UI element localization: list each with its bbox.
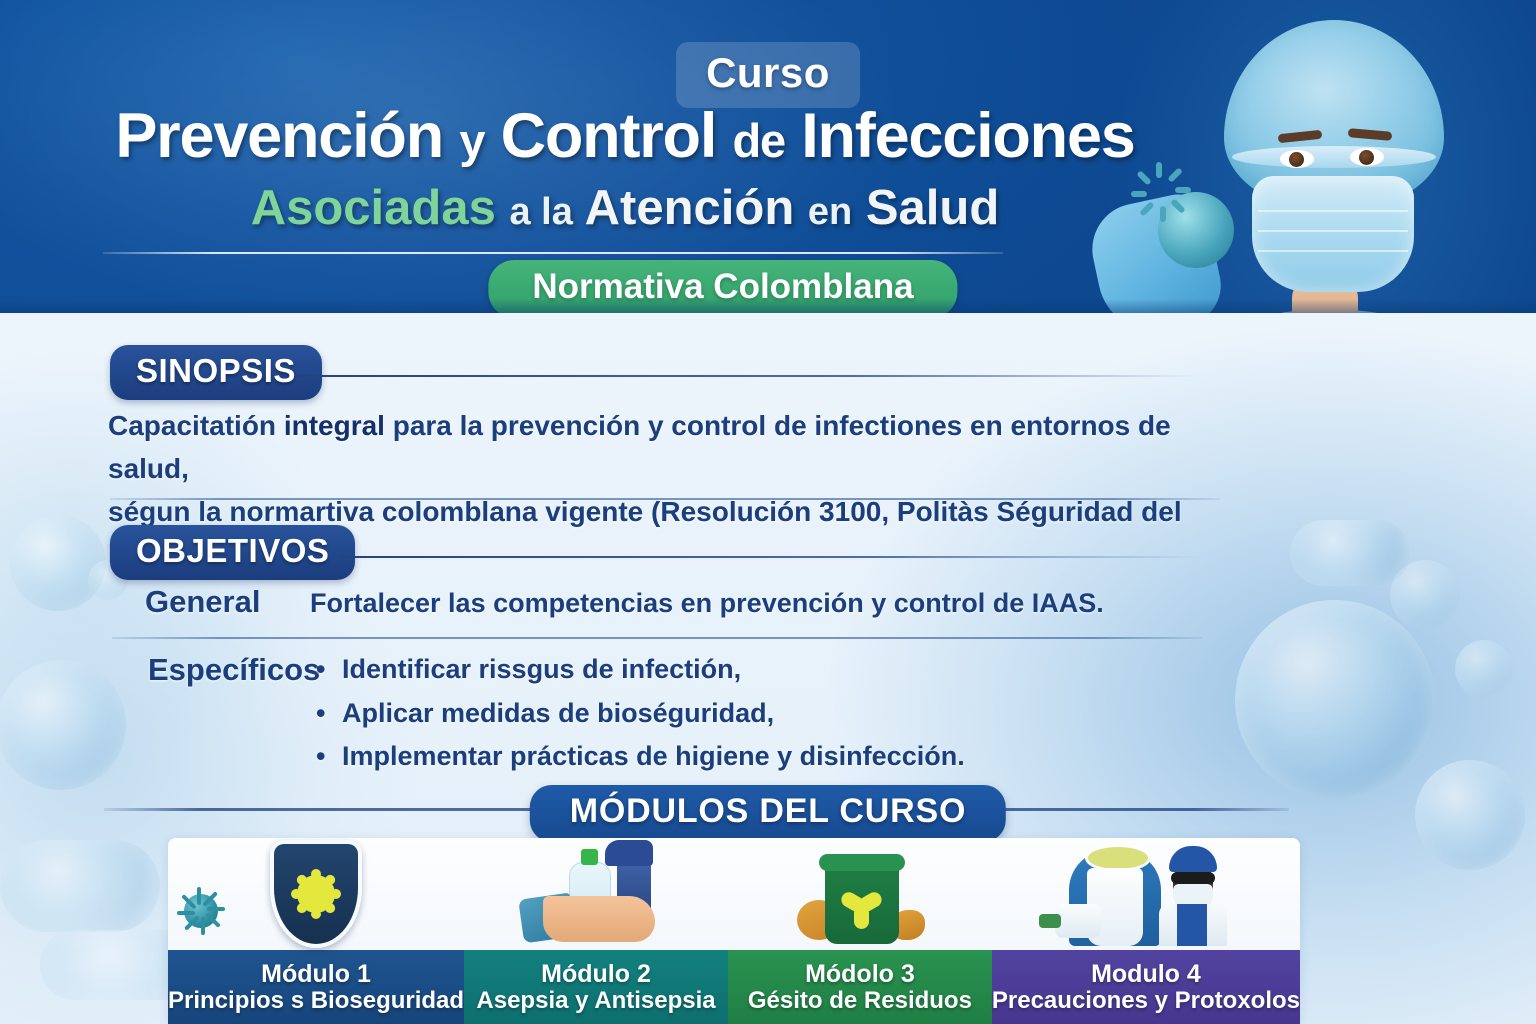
objetivos-divider: [112, 637, 1202, 639]
bacteria-decoration: [1290, 520, 1410, 586]
course-kicker-badge: Curso: [676, 42, 860, 108]
title-word-infecciones: Infecciones: [801, 101, 1134, 171]
hand-sanitizer-icon: [464, 838, 728, 950]
module-name: Precauciones y Protoxolos: [992, 988, 1300, 1015]
masked-worker-icon: [1157, 846, 1229, 946]
virus-decoration: [1455, 640, 1513, 698]
virus-decoration: [0, 660, 126, 790]
ppe-worker-icon: [992, 838, 1300, 950]
green-bin-icon: [825, 862, 899, 944]
waste-bin-illustration: [795, 842, 925, 946]
module-label-2: Módulo 2 Asepsia y Antisepsia: [464, 950, 728, 1024]
list-item-label: Identificar rissgus de infectión,: [342, 654, 741, 684]
hand-holding-products-icon: [521, 842, 671, 946]
hand-icon: [543, 896, 655, 942]
virus-decoration: [10, 515, 106, 611]
module-card-3[interactable]: Módolo 3 Gésito de Residuos: [728, 838, 992, 1024]
list-item: • Implementar prácticas de higiene y dis…: [312, 735, 965, 779]
course-poster: Curso Prevención y Control de Infeccione…: [0, 0, 1536, 1024]
virus-decoration: [1235, 600, 1435, 800]
objetivos-especificos-list: • Identificar rissgus de infectión, • Ap…: [312, 648, 965, 779]
modules-grid: Módulo 1 Principios s Bioseguridad Módul…: [168, 838, 1300, 1024]
virus-icon: [184, 894, 218, 928]
module-number: Módulo 1: [261, 960, 371, 988]
biohazard-bin-icon: [728, 838, 992, 950]
shield-icon: [270, 840, 362, 948]
sinopsis-rule: [296, 375, 1198, 377]
bullet-icon: •: [316, 648, 325, 692]
title-word-atencion: Atención: [585, 181, 795, 235]
biohazard-symbol-icon: [839, 884, 885, 930]
respirator-icon: [1055, 904, 1101, 938]
poster-title-line2: Asociadas a la Atención en Salud: [90, 183, 1160, 234]
title-word-control: Control: [501, 101, 717, 171]
module-label-3: Módolo 3 Gésito de Residuos: [728, 950, 992, 1024]
header-bottom-fade: [0, 299, 1536, 313]
list-item-label: Aplicar medidas de bioséguridad,: [342, 698, 774, 728]
module-number: Módulo 2: [541, 960, 651, 988]
sinopsis-line1-before: Capacitatión: [108, 410, 284, 441]
poster-title-line1: Prevención y Control de Infecciones: [90, 104, 1160, 168]
objetivos-section-pill: OBJETIVOS: [110, 525, 355, 580]
title-word-ala: a la: [509, 191, 572, 233]
title-word-y: y: [459, 114, 484, 167]
list-item: • Identificar rissgus de infectión,: [312, 648, 965, 692]
list-item: • Aplicar medidas de bioséguridad,: [312, 692, 965, 736]
virus-decoration: [1415, 760, 1525, 870]
nurse-cap-band: [1232, 146, 1436, 168]
module-name: Gésito de Residuos: [748, 988, 972, 1015]
objetivo-general-text: Fortalecer las competencias en prevenció…: [310, 588, 1104, 619]
nurse-eye: [1280, 150, 1314, 168]
objetivos-especificos-label: Específicos: [148, 652, 320, 688]
sinopsis-line1-emphasis: integral: [284, 410, 385, 441]
title-word-asociadas: Asociadas: [251, 181, 496, 235]
objetivos-rule: [340, 556, 1200, 558]
module-card-2[interactable]: Módulo 2 Asepsia y Antisepsia: [464, 838, 728, 1024]
module-label-1: Módulo 1 Principios s Bioseguridad: [168, 950, 464, 1024]
shield-virus-icon: [168, 838, 464, 950]
virus-model-icon: [1158, 192, 1234, 268]
ppe-illustration: [1061, 840, 1231, 948]
modules-section-badge: MÓDULOS DEL CURSO: [530, 785, 1006, 842]
goggles-icon: [1171, 872, 1215, 884]
title-word-salud: Salud: [866, 181, 999, 235]
nurse-eye: [1350, 148, 1384, 166]
poster-header: Curso Prevención y Control de Infeccione…: [0, 0, 1536, 313]
module-name: Principios s Bioseguridad: [168, 988, 464, 1015]
module-number: Modulo 4: [1091, 960, 1201, 988]
bacteria-decoration: [0, 840, 160, 932]
title-divider: [103, 252, 1003, 254]
list-item-label: Implementar prácticas de higiene y disin…: [342, 741, 965, 771]
module-card-1[interactable]: Módulo 1 Principios s Bioseguridad: [168, 838, 464, 1024]
virus-glyph-icon: [297, 875, 335, 913]
nurse-photo: [1106, 0, 1536, 313]
module-name: Asepsia y Antisepsia: [476, 988, 715, 1015]
face-mask-icon: [1252, 176, 1414, 292]
objetivo-general-label: General: [145, 584, 260, 620]
module-label-4: Modulo 4 Precauciones y Protoxolos: [992, 950, 1300, 1024]
sinopsis-bottom-divider: [110, 498, 1220, 500]
title-word-en: en: [808, 191, 852, 233]
bullet-icon: •: [316, 735, 325, 779]
bin-rim: [819, 854, 905, 871]
module-number: Módolo 3: [805, 960, 915, 988]
title-word-de: de: [732, 114, 784, 167]
bullet-icon: •: [316, 692, 325, 736]
module-card-4[interactable]: Modulo 4 Precauciones y Protoxolos: [992, 838, 1300, 1024]
sinopsis-section-pill: SINOPSIS: [110, 345, 322, 400]
title-word-prevencion: Prevención: [115, 101, 443, 171]
